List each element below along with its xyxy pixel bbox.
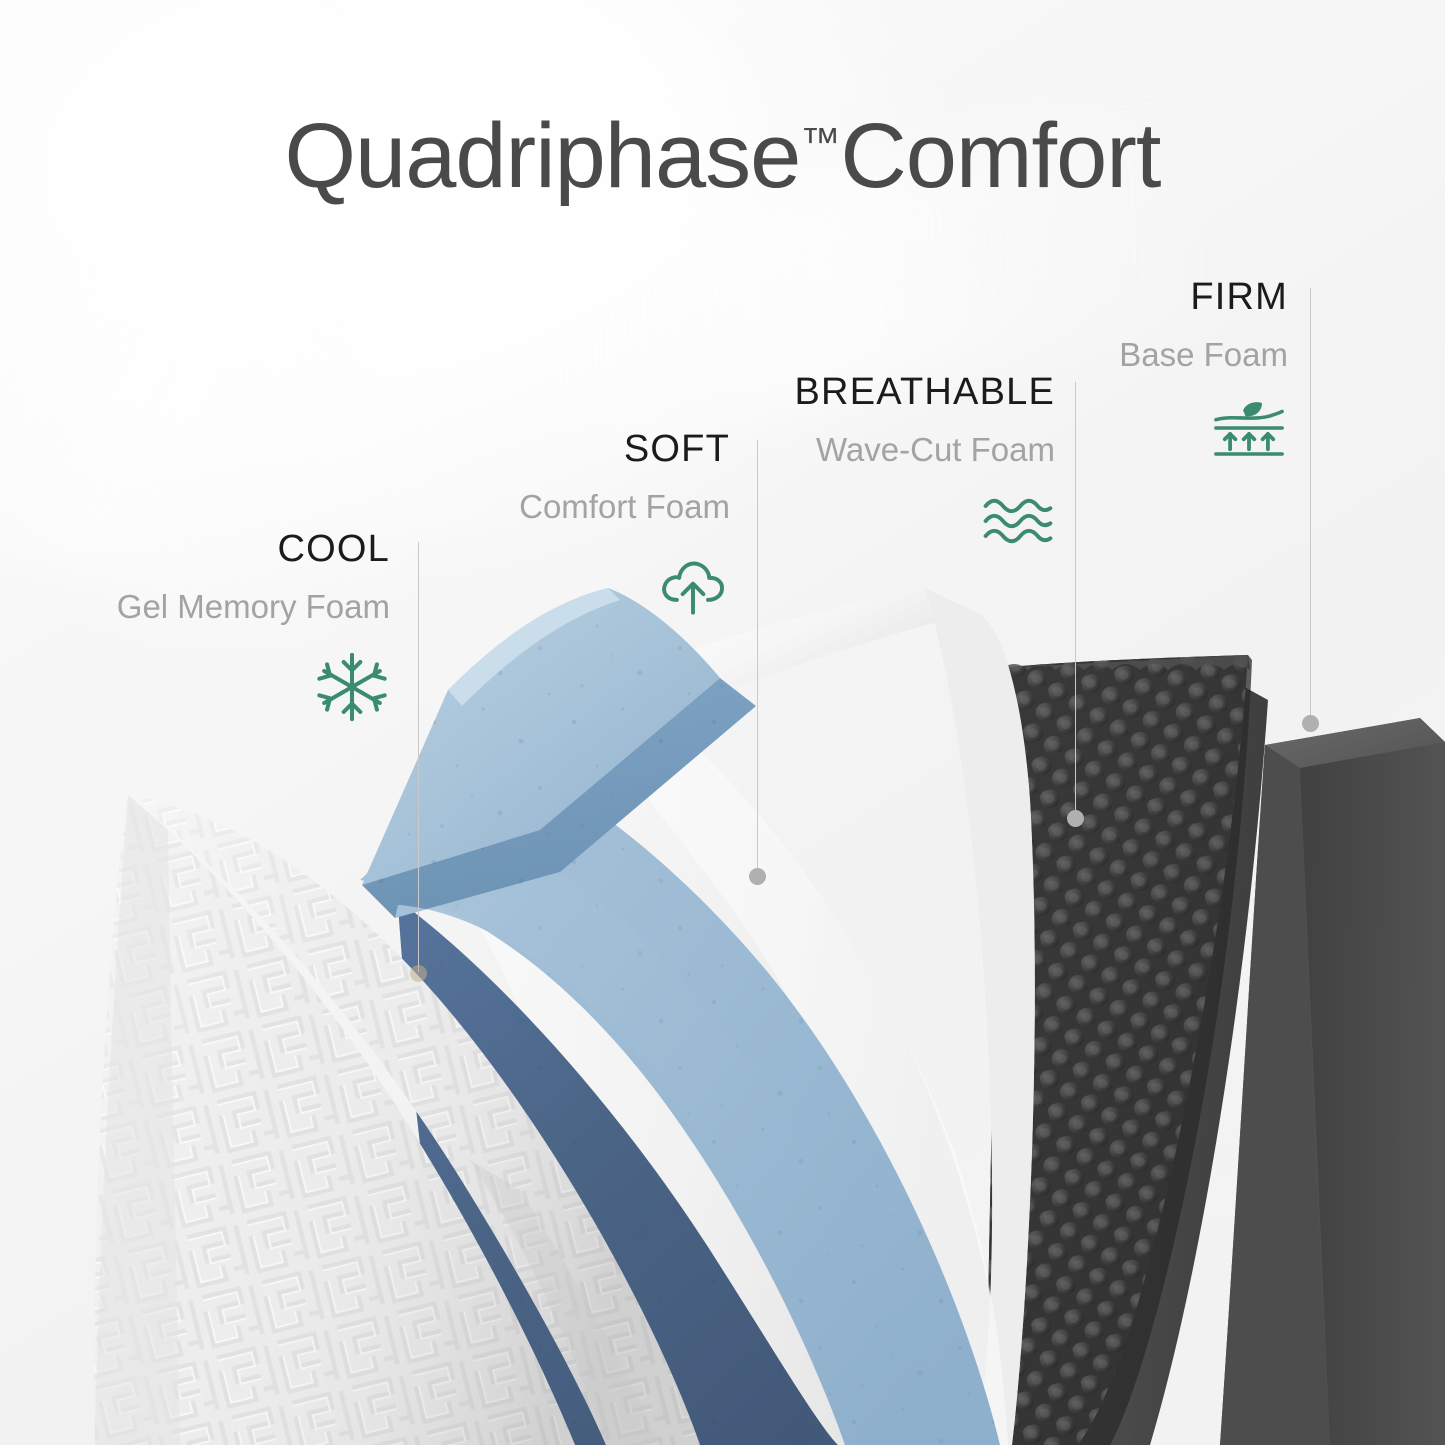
callout-headline: FIRM [1060,278,1288,316]
callout-headline: SOFT [480,430,730,468]
leader-dot-cool [410,965,427,982]
callout-subline: Base Foam [1060,338,1288,371]
product-infographic: Quadriphase™Comfort COOL Gel Memory Foam [0,0,1445,1445]
leader-dot-breathable [1067,810,1084,827]
cloud-up-arrow-icon [656,549,730,628]
callout-cool: COOL Gel Memory Foam [100,530,390,730]
callout-headline: BREATHABLE [770,373,1055,411]
leader-line-firm [1310,288,1311,718]
callout-breathable: BREATHABLE Wave-Cut Foam [770,373,1055,555]
leader-line-cool [418,542,419,972]
trademark-symbol: ™ [800,120,840,164]
leaf-support-arrows-icon [1210,397,1288,464]
wave-lines-icon [981,492,1055,555]
leader-dot-soft [749,868,766,885]
callout-subline: Wave-Cut Foam [770,433,1055,466]
callout-firm: FIRM Base Foam [1060,278,1288,464]
callout-subline: Gel Memory Foam [100,590,390,623]
title-suffix: Comfort [840,105,1160,207]
snowflake-icon [314,649,390,730]
callout-subline: Comfort Foam [480,490,730,523]
page-title: Quadriphase™Comfort [0,104,1445,209]
leader-line-soft [757,440,758,868]
title-main: Quadriphase [285,105,801,207]
callout-headline: COOL [100,530,390,568]
leader-dot-firm [1302,715,1319,732]
callout-soft: SOFT Comfort Foam [480,430,730,628]
